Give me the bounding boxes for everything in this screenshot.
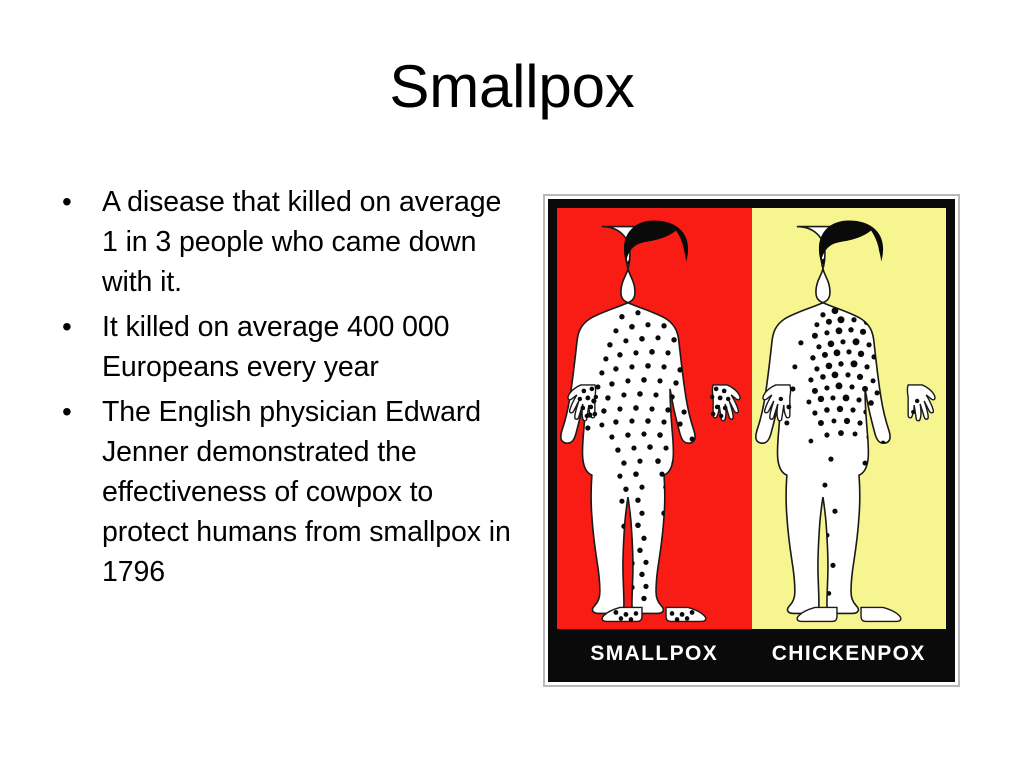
- figure-panels: [557, 208, 946, 629]
- bullet-text: It killed on average 400 000 Europeans e…: [102, 307, 516, 387]
- bullet-point-icon: •: [56, 182, 102, 222]
- bullet-point-icon: •: [56, 307, 102, 347]
- image-matte: SMALLPOX CHICKENPOX: [548, 199, 955, 682]
- bullet-point-icon: •: [56, 392, 102, 432]
- bullet-text: The English physician Edward Jenner demo…: [102, 392, 516, 592]
- panel-chickenpox: [752, 208, 947, 629]
- caption-smallpox: SMALLPOX: [557, 642, 752, 666]
- chickenpox-body-illustration: [752, 208, 947, 629]
- panel-smallpox: [557, 208, 752, 629]
- slide-canvas: Smallpox • A disease that killed on aver…: [0, 0, 1024, 768]
- bullet-list: • A disease that killed on average 1 in …: [56, 182, 516, 597]
- page-title: Smallpox: [0, 52, 1024, 121]
- smallpox-chickenpox-comparison-image: SMALLPOX CHICKENPOX: [543, 194, 960, 687]
- bullet-text: A disease that killed on average 1 in 3 …: [102, 182, 516, 302]
- smallpox-body-illustration: [557, 208, 752, 629]
- caption-chickenpox: CHICKENPOX: [752, 642, 947, 666]
- figure-caption-bar: SMALLPOX CHICKENPOX: [557, 632, 946, 676]
- list-item: • The English physician Edward Jenner de…: [56, 392, 516, 592]
- list-item: • It killed on average 400 000 Europeans…: [56, 307, 516, 387]
- list-item: • A disease that killed on average 1 in …: [56, 182, 516, 302]
